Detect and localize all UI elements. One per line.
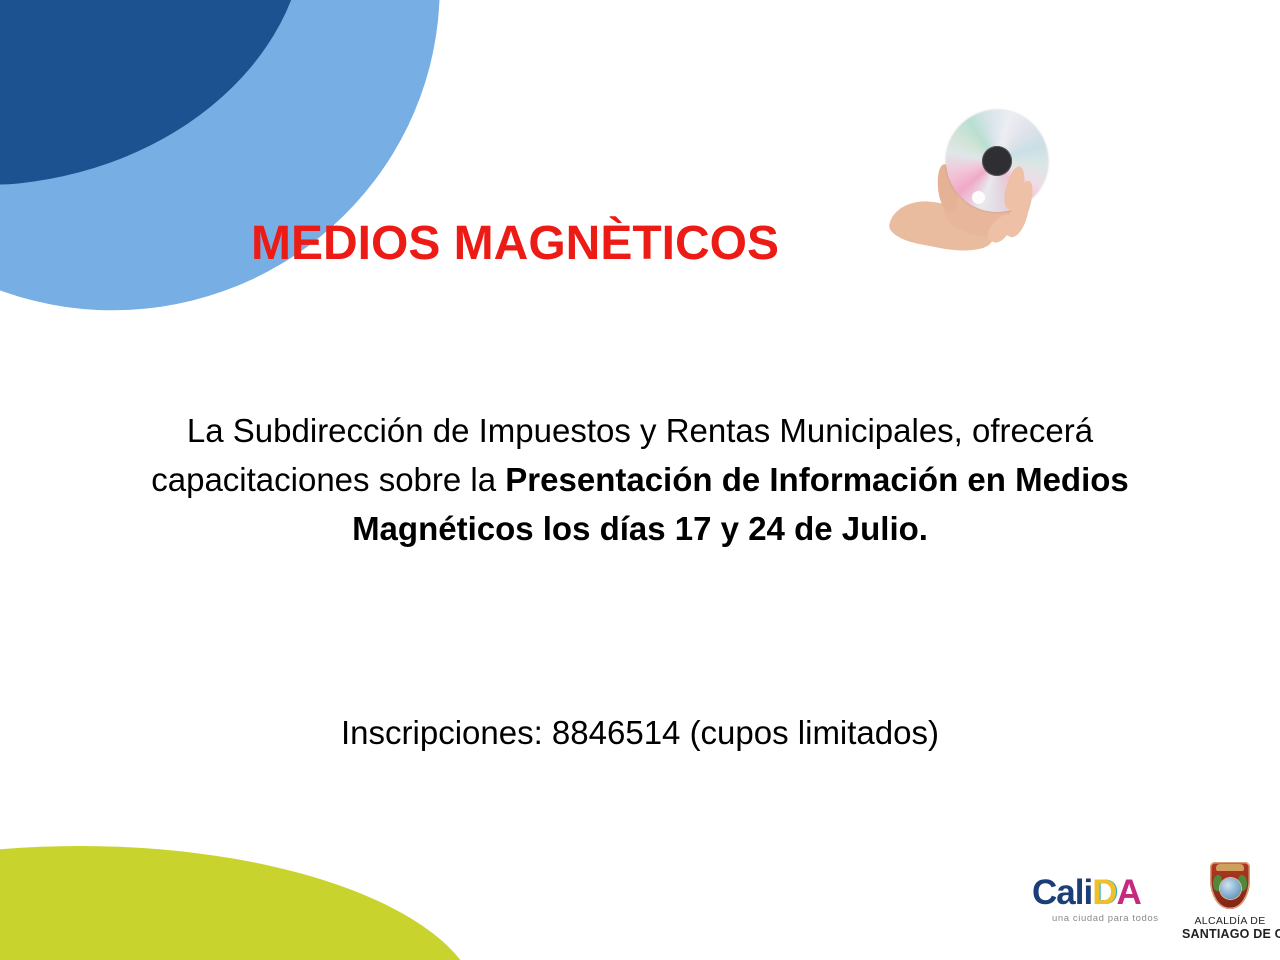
calida-tagline: una ciudad para todos: [1052, 913, 1159, 924]
calida-wordmark: CaliDA: [1032, 874, 1141, 912]
hand-holding-cd-image: [888, 108, 1068, 286]
alcaldia-line-2: SANTIAGO DE CALI: [1182, 927, 1278, 941]
cd-disc-icon: [946, 110, 1048, 212]
slide-body-text: La Subdirección de Impuestos y Rentas Mu…: [120, 406, 1160, 553]
calida-a-text: A: [1116, 873, 1140, 912]
decorative-blob-green: [0, 846, 480, 960]
calida-cali-text: Cali: [1032, 873, 1092, 912]
alcaldia-line-1: ALCALDÍA DE: [1182, 915, 1278, 927]
shield-globe-detail: [1220, 878, 1241, 899]
calida-d-text: D: [1092, 873, 1116, 912]
alcaldia-logo: ALCALDÍA DE SANTIAGO DE CALI: [1182, 862, 1278, 958]
coat-of-arms-icon: [1210, 862, 1250, 909]
presentation-slide: MEDIOS MAGNÈTICOS La Subdirección de Imp…: [0, 0, 1280, 960]
cd-center-hole: [972, 191, 985, 204]
shield-crown-detail: [1216, 864, 1244, 871]
slide-title: MEDIOS MAGNÈTICOS: [0, 216, 1280, 271]
inscription-line: Inscripciones: 8846514 (cupos limitados): [120, 714, 1160, 752]
calida-logo: CaliDA una ciudad para todos: [1032, 874, 1164, 930]
